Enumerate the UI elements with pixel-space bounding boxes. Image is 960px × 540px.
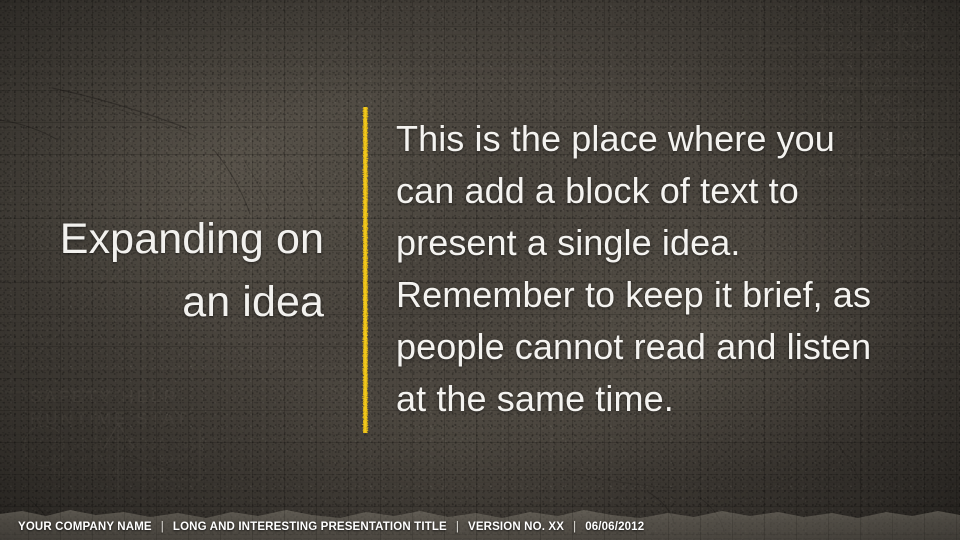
vertical-accent-rule	[362, 107, 369, 433]
presentation-slide: 100120 J0118 758402 18282 57342 343260 6…	[0, 0, 960, 540]
footer-presentation-title: LONG AND INTERESTING PRESENTATION TITLE	[173, 521, 447, 533]
footer-separator-2: |	[447, 521, 468, 533]
footer-version: VERSION NO. XX	[468, 521, 564, 533]
footer-date: 06/06/2012	[585, 521, 644, 533]
footer-separator-1: |	[152, 521, 173, 533]
slide-body-text: This is the place where you can add a bl…	[396, 113, 886, 425]
slide-footer: YOUR COMPANY NAME | LONG AND INTERESTING…	[0, 504, 960, 540]
slide-title: Expanding on an idea	[40, 208, 324, 334]
footer-separator-3: |	[564, 521, 585, 533]
footer-meta: YOUR COMPANY NAME | LONG AND INTERESTING…	[18, 521, 644, 533]
footer-company-name: YOUR COMPANY NAME	[18, 521, 152, 533]
